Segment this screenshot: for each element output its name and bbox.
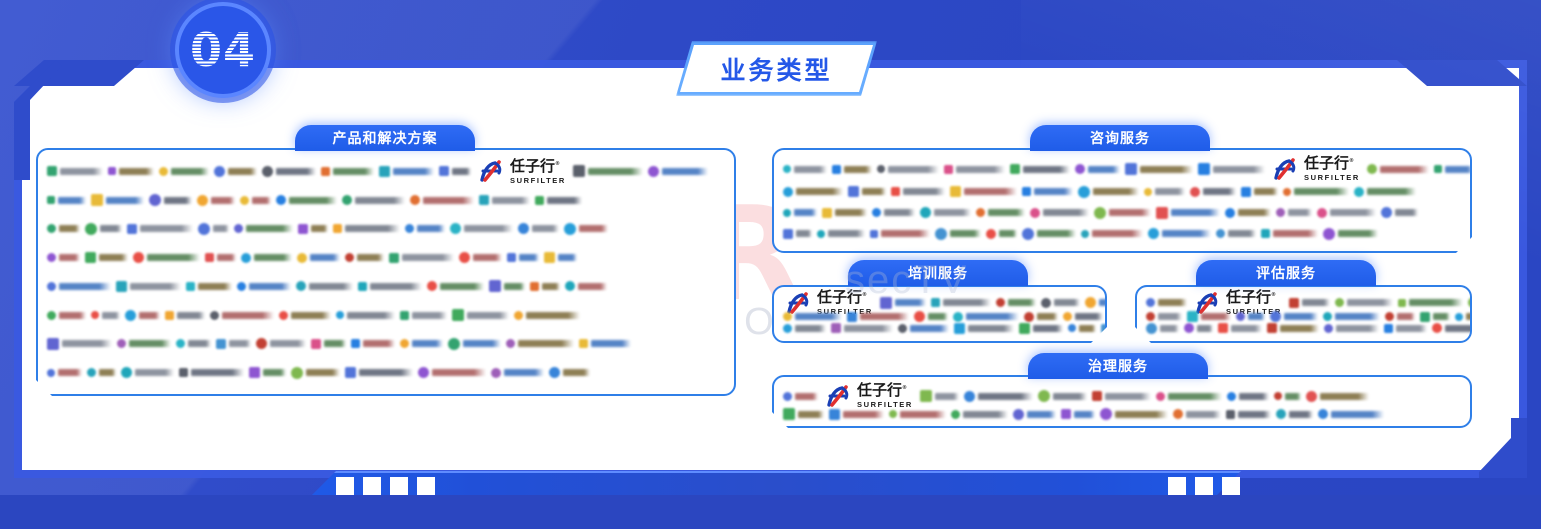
partner-logo-mark [210,311,219,320]
partner-logo-wordmark [357,254,384,261]
partner-logo-mark [1317,208,1327,218]
partner-logo [197,195,235,206]
partner-logo-wordmark [228,168,257,175]
partner-logo-wordmark [1201,313,1231,320]
partner-logo-wordmark [844,166,872,173]
partner-logo [1038,390,1087,402]
partner-logo [950,186,1017,197]
partner-logo-mark [1022,228,1034,240]
partner-logo [889,410,946,418]
partner-logo-wordmark [464,225,513,232]
partner-logo-mark [783,408,795,420]
partner-logo [951,410,1008,419]
partner-logo [1318,409,1384,419]
logo-panel-governance: 任子行®SURFILTER [772,375,1472,428]
partner-logo [1063,312,1103,321]
logo-grid-assessment: 任子行®SURFILTER [1137,287,1470,341]
partner-logo-mark [935,228,947,240]
partner-logo-wordmark [1140,166,1193,173]
partner-logo-wordmark [119,168,154,175]
partner-logo-mark [1216,229,1225,238]
section-pill-governance[interactable]: 治理服务 [1028,353,1208,379]
partner-logo [117,339,171,348]
partner-logo-wordmark [347,312,395,319]
partner-logo [1455,313,1472,321]
partner-logo-wordmark [1248,313,1265,320]
partner-logo-wordmark [910,325,949,332]
partner-logo-mark [459,252,470,263]
partner-logo-mark [1092,391,1102,401]
partner-logo [783,229,812,239]
partner-logo [85,223,122,235]
partner-logo-wordmark [843,411,884,418]
partner-logo-wordmark [1466,313,1472,320]
partner-logo [336,311,395,319]
partner-logo-mark [1227,392,1236,401]
partner-logo [1019,323,1063,334]
partner-logo-mark [179,368,188,377]
partner-logo-mark [358,282,367,291]
surfilter-brand-text: 任子行®SURFILTER [510,159,566,185]
partner-logo-wordmark [532,225,559,232]
partner-logo-mark [85,223,97,235]
partner-logo-wordmark [860,313,909,320]
partner-logo-wordmark [966,313,1019,320]
surfilter-brand-logo: 任子行®SURFILTER [479,159,566,185]
logo-panel-training: 任子行®SURFILTER [772,285,1107,343]
logo-row [47,330,725,359]
partner-logo [491,368,544,378]
partner-logo-mark [1184,323,1194,333]
partner-logo-wordmark [796,230,812,237]
surfilter-brand-tm: ® [1271,292,1276,298]
partner-logo-wordmark [1239,393,1269,400]
partner-logo [1261,229,1318,238]
partner-logo-wordmark [1231,325,1262,332]
logo-row [47,215,725,244]
partner-logo [1236,312,1265,321]
partner-logo-mark [783,324,792,333]
partner-logo-wordmark [988,209,1025,216]
logo-row: 任子行®SURFILTER [783,384,1461,408]
partner-logo-wordmark [59,283,111,290]
partner-logo [1022,187,1073,196]
surfilter-brand-logo: 任子行®SURFILTER [826,383,913,409]
partner-logo-mark [479,195,489,205]
partner-logo-mark [85,252,96,263]
partner-logo [976,208,1025,217]
partner-logo [121,367,174,378]
section-pill-consulting[interactable]: 咨询服务 [1030,125,1210,151]
partner-logo-wordmark [591,340,631,347]
partner-logo-mark [964,391,975,402]
partner-logo [518,223,559,234]
partner-logo [1041,298,1080,308]
partner-logo-mark [1125,163,1137,175]
partner-logo-mark [829,409,840,420]
partner-logo-wordmark [794,209,817,216]
partner-logo-wordmark [1158,313,1182,320]
partner-logo-wordmark [1155,188,1185,195]
partner-logo-mark [1061,409,1071,419]
partner-logo-mark [1270,311,1281,322]
partner-logo-wordmark [246,225,293,232]
partner-logo [427,281,484,291]
partner-logo-wordmark [1008,299,1036,306]
partner-logo-mark [1324,324,1333,333]
logo-grid-governance: 任子行®SURFILTER [774,377,1470,426]
section-number-text: 04 [190,23,256,77]
partner-logo [920,207,971,218]
partner-logo-mark [1041,298,1051,308]
partner-logo-wordmark [900,411,946,418]
title-ribbon: 业务类型 [680,45,873,92]
partner-logo [47,253,80,262]
partner-logo [1276,409,1313,419]
logo-row [783,181,1461,202]
logo-panel-consulting: 任子行®SURFILTER [772,148,1472,253]
footer-square [1195,477,1213,495]
partner-logo [1283,188,1349,196]
partner-logo [47,224,80,233]
partner-logo-mark [648,166,659,177]
partner-logo-wordmark [1433,313,1450,320]
partner-logo-mark [1420,312,1430,322]
partner-logo-mark [1013,409,1024,420]
partner-logo-mark [379,166,390,177]
partner-logo [898,324,949,333]
partner-logo-wordmark [1053,393,1087,400]
partner-logo-mark [564,223,576,235]
partner-logo-mark [530,282,539,291]
partner-logo-wordmark [798,411,824,418]
partner-logo-mark [944,165,953,174]
partner-logo [832,165,872,174]
footer-square [336,477,354,495]
partner-logo-wordmark [345,225,400,232]
partner-logo [298,224,328,234]
partner-logo-wordmark [563,369,590,376]
partner-logo-mark [216,339,226,349]
partner-logo-wordmark [249,283,291,290]
partner-logo-wordmark [895,299,926,306]
partner-logo-wordmark [1284,313,1318,320]
partner-logo [783,165,827,173]
partner-logo-mark [506,339,515,348]
partner-logo-mark [1146,323,1157,334]
partner-logo-mark [237,282,246,291]
partner-logo [507,253,539,262]
section-pill-products[interactable]: 产品和解决方案 [295,125,475,151]
partner-logo-wordmark [432,369,486,376]
partner-logo-mark [1241,187,1251,197]
partner-logo-mark [1468,297,1472,308]
surfilter-brand-logo: 任子行®SURFILTER [1273,156,1360,182]
partner-logo-wordmark [1330,209,1376,216]
partner-logo [1216,229,1256,238]
partner-logo-mark [1335,298,1344,307]
partner-logo-wordmark [1335,313,1380,320]
partner-logo [1274,392,1301,400]
partner-logo-mark [1267,323,1277,333]
partner-logo-mark [262,166,273,177]
partner-logo [1024,312,1058,322]
partner-logo [573,165,643,177]
partner-logo-mark [1398,299,1406,307]
partner-logo [1241,187,1278,197]
partner-logo-mark [298,224,308,234]
partner-logo-wordmark [58,369,82,376]
partner-logo-mark [121,367,132,378]
surfilter-brand-tm: ® [862,292,867,298]
partner-logo [1270,311,1318,322]
partner-logo-mark [91,311,99,319]
partner-logo-wordmark [130,283,181,290]
partner-logo-mark [249,367,260,378]
partner-logo [345,253,384,262]
partner-logo [351,339,395,348]
partner-logo [1432,323,1472,333]
partner-logo [256,338,306,349]
partner-logo [1156,207,1220,219]
partner-logo [1146,298,1187,307]
partner-logo-mark [296,281,306,291]
partner-logo-mark [47,224,56,233]
footer-squares-right [1168,477,1240,495]
partner-logo [389,253,454,263]
partner-logo-mark [336,311,344,319]
partner-logo [234,224,293,233]
partner-logo-mark [1283,188,1291,196]
section-pill-assessment[interactable]: 评估服务 [1196,260,1376,286]
partner-logo-wordmark [254,254,292,261]
partner-logo [176,339,211,348]
footer-squares-left [336,477,435,495]
partner-logo [914,311,948,322]
partner-logo-wordmark [213,225,229,232]
partner-logo-mark [783,392,792,401]
partner-logo-mark [954,323,965,334]
partner-logo-wordmark [1273,230,1318,237]
partner-logo-wordmark [1289,411,1313,418]
surfilter-logo-icon [1273,158,1299,180]
footer-square [1222,477,1240,495]
partner-logo-mark [452,309,464,321]
partner-logo-mark [256,338,267,349]
partner-logo-wordmark [1338,230,1378,237]
partner-logo-wordmark [1213,166,1265,173]
partner-logo-wordmark [1238,209,1271,216]
partner-logo-mark [410,195,420,205]
partner-logo-wordmark [844,325,893,332]
partner-logo [877,165,939,173]
partner-logo-wordmark [999,230,1017,237]
slide-canvas: 04 业务类型 CR REGIO secTV 产品和解决方案 咨询服务 培训服务… [0,0,1541,529]
partner-logo-mark [176,339,185,348]
partner-logo-mark [1289,298,1299,308]
partner-logo [1385,312,1415,321]
partner-logo [47,369,82,377]
logo-row [47,358,725,387]
partner-logo-wordmark [402,254,454,261]
partner-logo-wordmark [99,254,128,261]
partner-logo-mark [1085,297,1096,308]
partner-logo-wordmark [310,254,340,261]
partner-logo-mark [389,253,399,263]
partner-logo [935,228,981,240]
partner-logo [85,252,128,263]
partner-logo [920,390,959,402]
partner-logo-mark [405,224,414,233]
partner-logo-wordmark [1033,325,1063,332]
partner-logo-mark [116,281,127,292]
partner-logo-mark [1019,323,1030,334]
partner-logo [1367,164,1429,174]
partner-logo-mark [951,410,960,419]
partner-logo-wordmark [558,254,577,261]
partner-logo [297,253,340,263]
partner-logo-wordmark [129,340,171,347]
partner-logo-wordmark [198,283,232,290]
partner-logo [783,408,824,420]
partner-logo-wordmark [504,369,544,376]
surfilter-brand-cn: 任子行® [1304,156,1360,171]
partner-logo-mark [1148,228,1159,239]
partner-logo-mark [817,230,825,238]
partner-logo-wordmark [1168,393,1222,400]
partner-logo-mark [847,312,857,322]
partner-logo [91,194,144,206]
partner-logo-mark [240,196,249,205]
logo-row [1146,323,1461,335]
partner-logo [848,186,886,197]
partner-logo-mark [1236,312,1245,321]
partner-logo-wordmark [289,197,337,204]
partner-logo-wordmark [1105,393,1151,400]
partner-logo-mark [1081,230,1089,238]
partner-logo-mark [535,196,544,205]
partner-logo-wordmark [1079,325,1096,332]
partner-logo-mark [579,339,588,348]
partner-logo [831,323,893,333]
partner-logo-wordmark [370,283,422,290]
partner-logo-wordmark [928,313,948,320]
partner-logo-wordmark [139,312,160,319]
partner-logo [1010,164,1070,174]
partner-logo-mark [514,311,523,320]
partner-logo [931,298,991,307]
partner-logo [872,208,915,217]
partner-logo [405,224,445,233]
partner-logo-wordmark [217,254,236,261]
logo-row [47,272,725,301]
logo-grid-consulting: 任子行®SURFILTER [774,150,1470,251]
logo-row: 任子行®SURFILTER [783,294,1096,311]
partner-logo [1173,409,1221,419]
partner-logo-mark [1455,313,1463,321]
partner-logo-mark [1218,323,1228,333]
partner-logo [479,195,530,205]
partner-logo [91,311,120,319]
partner-logo [1317,208,1376,218]
partner-logo [410,195,474,205]
partner-logo-wordmark [795,325,826,332]
partner-logo-wordmark [59,225,80,232]
partner-logo [1306,391,1369,402]
partner-logo-mark [279,311,288,320]
partner-logo-mark [427,281,437,291]
partner-logo [986,229,1017,239]
partner-logo [996,298,1036,307]
partner-logo [47,282,111,291]
partner-logo-mark [931,298,940,307]
partner-logo-mark [1225,208,1235,218]
partner-logo [249,367,286,378]
partner-logo-wordmark [211,197,235,204]
partner-logo-wordmark [229,340,251,347]
partner-logo-wordmark [463,340,501,347]
section-label-training: 培训服务 [908,263,968,283]
partner-logo-mark [1038,390,1050,402]
partner-logo-wordmark [191,369,244,376]
partner-logo [311,339,346,349]
partner-logo-mark [47,282,56,291]
partner-logo-wordmark [102,312,120,319]
partner-logo-mark [47,253,56,262]
partner-logo [1100,408,1168,420]
partner-logo [783,324,826,333]
footer-square [363,477,381,495]
partner-logo-wordmark [1054,299,1080,306]
surfilter-brand-text: 任子行®SURFILTER [857,383,913,409]
partner-logo [1148,228,1211,239]
partner-logo-wordmark [1075,313,1103,320]
partner-logo-mark [1306,391,1317,402]
partner-logo [296,281,353,291]
partner-logo-mark [345,367,356,378]
surfilter-brand-tm: ® [555,161,560,167]
surfilter-logo-icon [826,385,852,407]
surfilter-brand-tm: ® [902,385,907,391]
partner-logo-wordmark [1088,166,1120,173]
partner-logo [149,194,192,206]
partner-logo [279,311,331,320]
partner-logo-wordmark [171,168,209,175]
section-pill-training[interactable]: 培训服务 [848,260,1028,286]
partner-logo [880,297,926,309]
partner-logo-mark [889,410,897,418]
partner-logo [944,165,1005,174]
partner-logo-wordmark [794,166,827,173]
partner-logo [1081,230,1143,238]
partner-logo [237,282,291,291]
partner-logo-wordmark [106,197,144,204]
partner-logo-mark [234,224,243,233]
section-label-governance: 治理服务 [1088,356,1148,376]
partner-logo [783,187,843,197]
surfilter-brand-cn: 任子行® [857,383,913,398]
partner-logo [1068,324,1096,332]
partner-logo [964,391,1033,402]
partner-logo-wordmark [1238,411,1271,418]
partner-logo [262,166,316,177]
partner-logo-mark [1094,207,1106,219]
partner-logo [1146,312,1182,321]
partner-logo-mark [491,368,501,378]
partner-logo-mark [165,311,174,320]
partner-logo [198,223,229,235]
partner-logo-wordmark [423,197,474,204]
